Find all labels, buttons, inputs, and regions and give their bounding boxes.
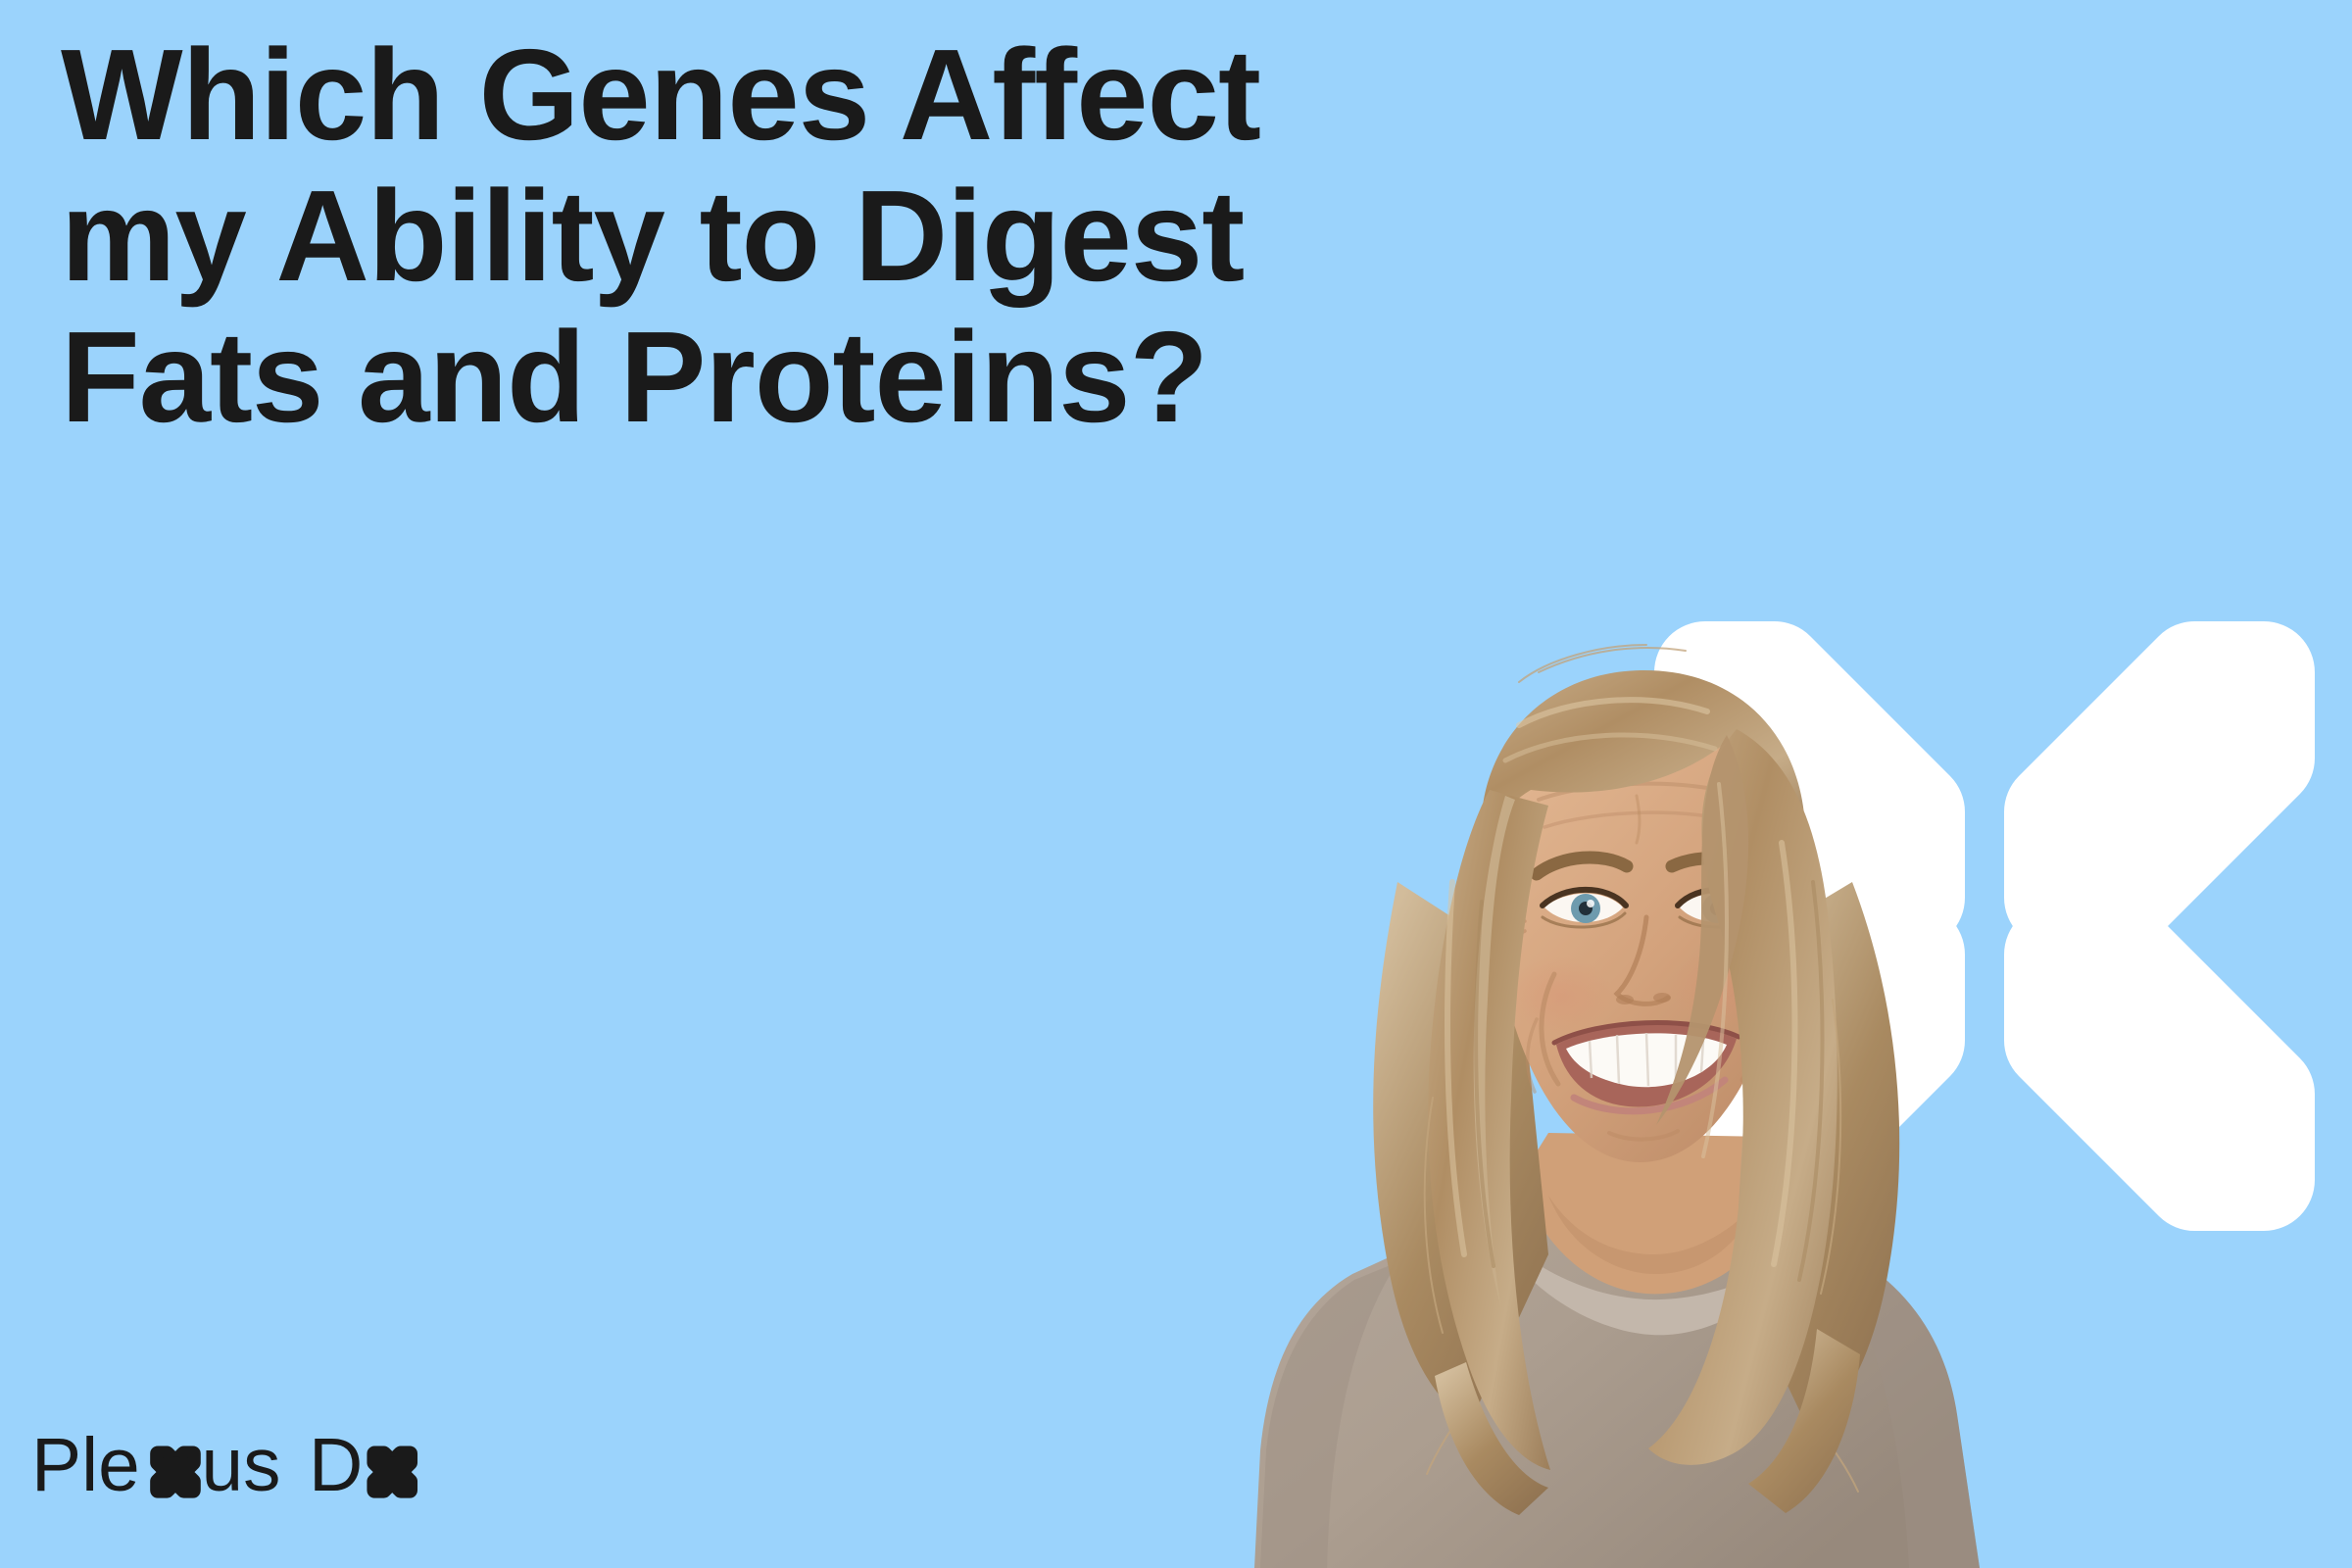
- logo-text-part-1: Ple: [31, 1424, 140, 1507]
- logo-text-part-3: D: [309, 1424, 363, 1507]
- title-line-2: my Ability to Digest: [61, 178, 1982, 294]
- logo-text-part-2: us: [202, 1424, 281, 1507]
- title-line-3: Fats and Proteins?: [61, 319, 1982, 435]
- logo-x-mark-icon-1: [150, 1445, 201, 1497]
- logo-x-mark-icon-2: [367, 1445, 417, 1497]
- banner-canvas: Which Genes Affect my Ability to Digest …: [0, 0, 2352, 1568]
- title-line-1: Which Genes Affect: [61, 37, 1982, 153]
- page-title: Which Genes Affect my Ability to Digest …: [61, 37, 1982, 435]
- plexusdx-logo[interactable]: Ple us D: [31, 1423, 491, 1507]
